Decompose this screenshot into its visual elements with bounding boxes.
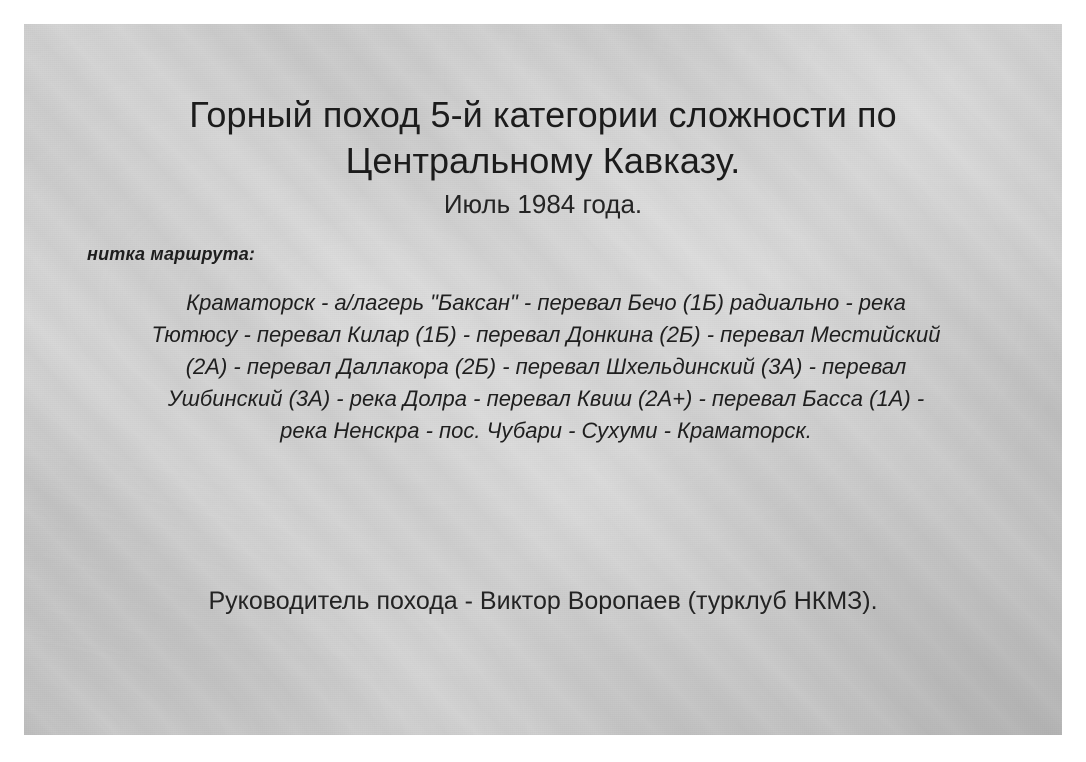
slide-page: Горный поход 5-й категории сложности по … [0, 0, 1086, 762]
page-title-line-2: Центральному Кавказу. [84, 138, 1002, 184]
route-line: (2А) - перевал Даллакора (2Б) - перевал … [60, 351, 1032, 383]
route-label: нитка маршрута: [87, 242, 255, 266]
route-description: Краматорск - а/лагерь "Баксан" - перевал… [60, 287, 1032, 447]
route-line: Тютюсу - перевал Килар (1Б) - перевал До… [60, 319, 1032, 351]
route-line: Ушбинский (3А) - река Долра - перевал Кв… [60, 383, 1032, 415]
expedition-leader-note: Руководитель похода - Виктор Воропаев (т… [24, 584, 1062, 618]
page-title-line-1: Горный поход 5-й категории сложности по [84, 92, 1002, 138]
scanned-paper-surface: Горный поход 5-й категории сложности по … [24, 24, 1062, 735]
document-content: Горный поход 5-й категории сложности по … [24, 24, 1062, 735]
route-line: Краматорск - а/лагерь "Баксан" - перевал… [60, 287, 1032, 319]
page-title: Горный поход 5-й категории сложности по … [24, 92, 1062, 184]
expedition-date: Июль 1984 года. [24, 188, 1062, 220]
route-line: река Ненскра - пос. Чубари - Сухуми - Кр… [60, 415, 1032, 447]
